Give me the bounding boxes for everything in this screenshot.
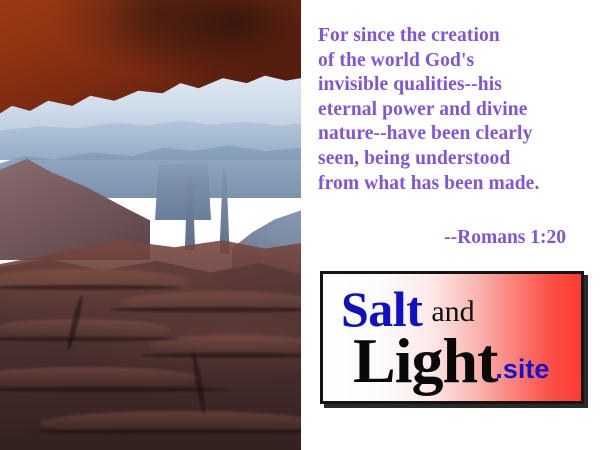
- verse-attribution: --Romans 1:20: [318, 226, 566, 251]
- rock-crack: [190, 351, 207, 415]
- logo-line-two: Light.site: [353, 324, 549, 398]
- rock-crack: [110, 307, 301, 312]
- rock-ledge: [0, 319, 170, 339]
- rock-ledge: [0, 269, 190, 295]
- logo-word-tld: .site: [495, 354, 549, 384]
- slide-canvas: For since the creation of the world God'…: [0, 0, 600, 450]
- rock-crack: [140, 353, 301, 358]
- salt-and-light-logo[interactable]: Saltand Light.site: [320, 271, 584, 404]
- foreground-slickrock: [0, 255, 301, 450]
- scripture-verse-text: For since the creation of the world God'…: [318, 24, 586, 196]
- rock-crack: [30, 429, 301, 434]
- rock-ledge: [0, 367, 200, 389]
- logo-word-light: Light: [353, 325, 497, 396]
- canyon-photograph: [0, 0, 301, 450]
- central-butte: [155, 158, 211, 220]
- rock-crack: [0, 387, 230, 392]
